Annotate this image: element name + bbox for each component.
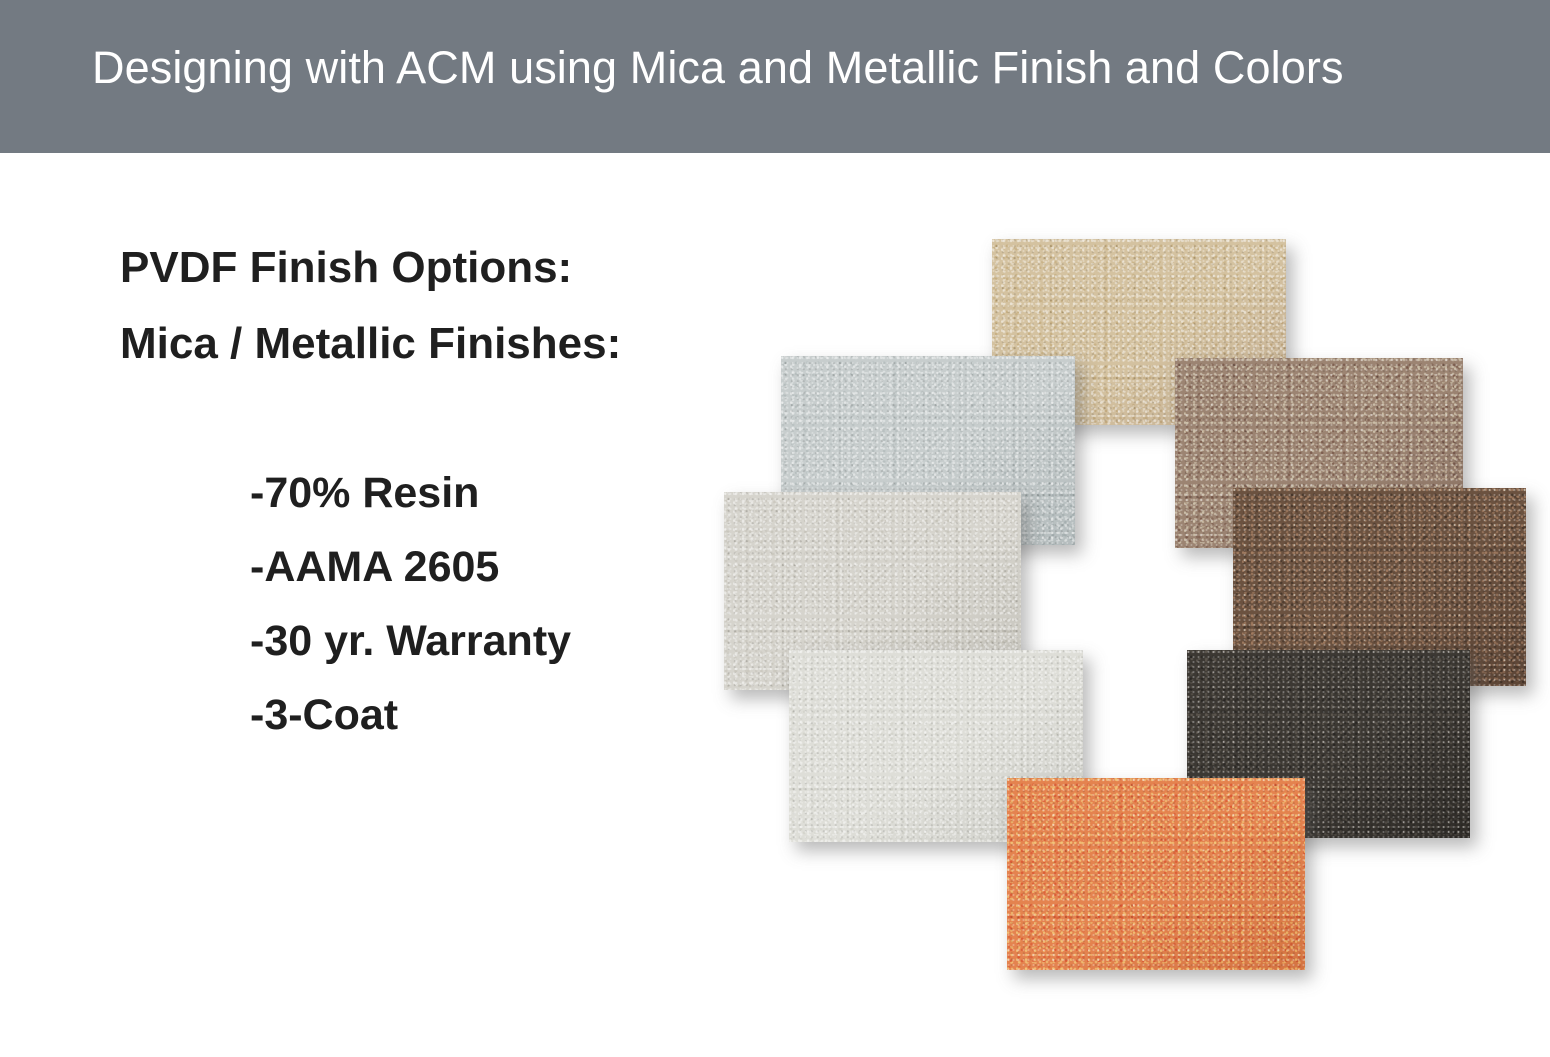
finish-spec-list: -70% Resin -AAMA 2605 -30 yr. Warranty -… [250, 456, 740, 752]
heading-pvdf-finish-options: PVDF Finish Options: [120, 230, 740, 306]
list-item: -70% Resin [250, 456, 740, 530]
page-title: Designing with ACM using Mica and Metall… [92, 40, 1344, 95]
color-swatch-copper-orange[interactable] [1007, 778, 1305, 970]
heading-mica-metallic-finishes: Mica / Metallic Finishes: [120, 306, 740, 382]
text-content-column: PVDF Finish Options: Mica / Metallic Fin… [120, 230, 740, 752]
slide-canvas: Designing with ACM using Mica and Metall… [0, 0, 1550, 1057]
list-item: -AAMA 2605 [250, 530, 740, 604]
list-item: -30 yr. Warranty [250, 604, 740, 678]
list-item: -3-Coat [250, 678, 740, 752]
header-band: Designing with ACM using Mica and Metall… [0, 0, 1550, 153]
